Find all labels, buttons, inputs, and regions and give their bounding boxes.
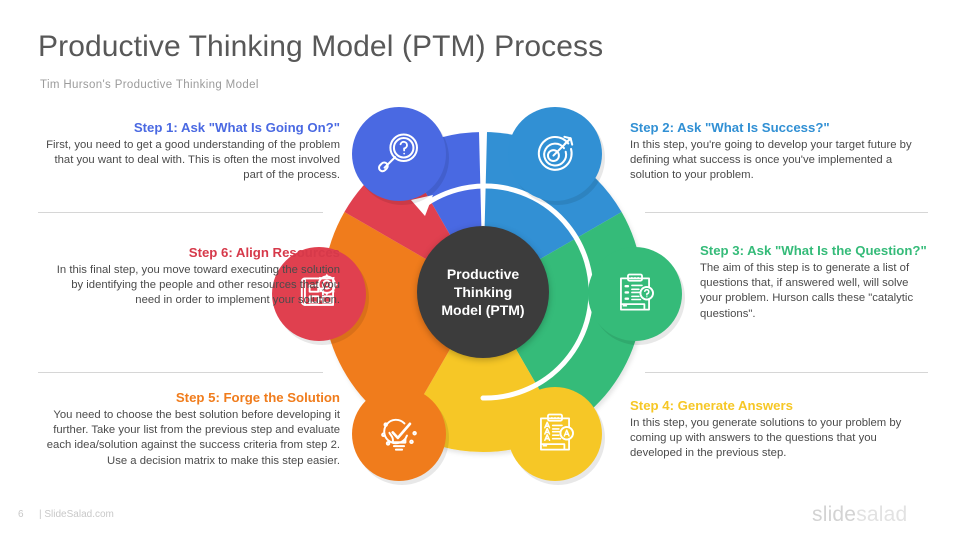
clipboard-answers-icon <box>530 409 580 459</box>
center-line-1: Productive <box>447 266 519 282</box>
clipboard-questions-icon <box>610 269 660 319</box>
text-block-step-5: Step 5: Forge the Solution You need to c… <box>45 390 340 469</box>
page-title: Productive Thinking Model (PTM) Process <box>38 30 603 64</box>
step-1-body: First, you need to get a good understand… <box>45 138 340 184</box>
target-arrow-icon <box>530 129 580 179</box>
center-label: Productive Thinking Model (PTM) <box>417 226 549 358</box>
icon-badge-step-5[interactable] <box>352 387 446 481</box>
page-number: 6 <box>18 509 24 520</box>
step-6-body: In this final step, you move toward exec… <box>45 263 340 309</box>
center-line-2: Thinking <box>454 284 512 300</box>
text-block-step-3: Step 3: Ask "What Is the Question?" The … <box>700 243 928 322</box>
step-2-body: In this step, you're going to develop yo… <box>630 138 930 184</box>
logo-second-part: salad <box>856 503 907 526</box>
step-3-body: The aim of this step is to generate a li… <box>700 261 928 323</box>
divider-left-top <box>38 212 323 213</box>
text-block-step-1: Step 1: Ask "What Is Going On?" First, y… <box>45 120 340 184</box>
step-3-heading: Step 3: Ask "What Is the Question?" <box>700 243 928 259</box>
icon-badge-step-3[interactable] <box>588 247 682 341</box>
lightbulb-check-icon <box>374 409 424 459</box>
text-block-step-6: Step 6: Align Resources In this final st… <box>45 245 340 309</box>
text-block-step-4: Step 4: Generate Answers In this step, y… <box>630 398 930 462</box>
footer-site: | SlideSalad.com <box>39 509 114 520</box>
divider-right-bottom <box>645 372 928 373</box>
divider-left-bottom <box>38 372 323 373</box>
page-subtitle: Tim Hurson's Productive Thinking Model <box>40 79 259 91</box>
text-block-step-2: Step 2: Ask "What Is Success?" In this s… <box>630 120 930 184</box>
slidesalad-logo: slidesalad <box>812 503 907 527</box>
icon-badge-step-2[interactable] <box>508 107 602 201</box>
center-line-3: Model (PTM) <box>441 302 524 318</box>
logo-first-part: slide <box>812 503 856 526</box>
step-6-heading: Step 6: Align Resources <box>45 245 340 261</box>
step-4-heading: Step 4: Generate Answers <box>630 398 930 414</box>
magnifier-question-icon <box>374 129 424 179</box>
icon-badge-step-1[interactable] <box>352 107 446 201</box>
divider-right-top <box>645 212 928 213</box>
step-5-body: You need to choose the best solution bef… <box>45 408 340 470</box>
slide-canvas: Productive Thinking Model (PTM) Process … <box>0 0 960 540</box>
step-5-heading: Step 5: Forge the Solution <box>45 390 340 406</box>
step-1-heading: Step 1: Ask "What Is Going On?" <box>45 120 340 136</box>
icon-badge-step-4[interactable] <box>508 387 602 481</box>
step-2-heading: Step 2: Ask "What Is Success?" <box>630 120 930 136</box>
step-4-body: In this step, you generate solutions to … <box>630 416 930 462</box>
